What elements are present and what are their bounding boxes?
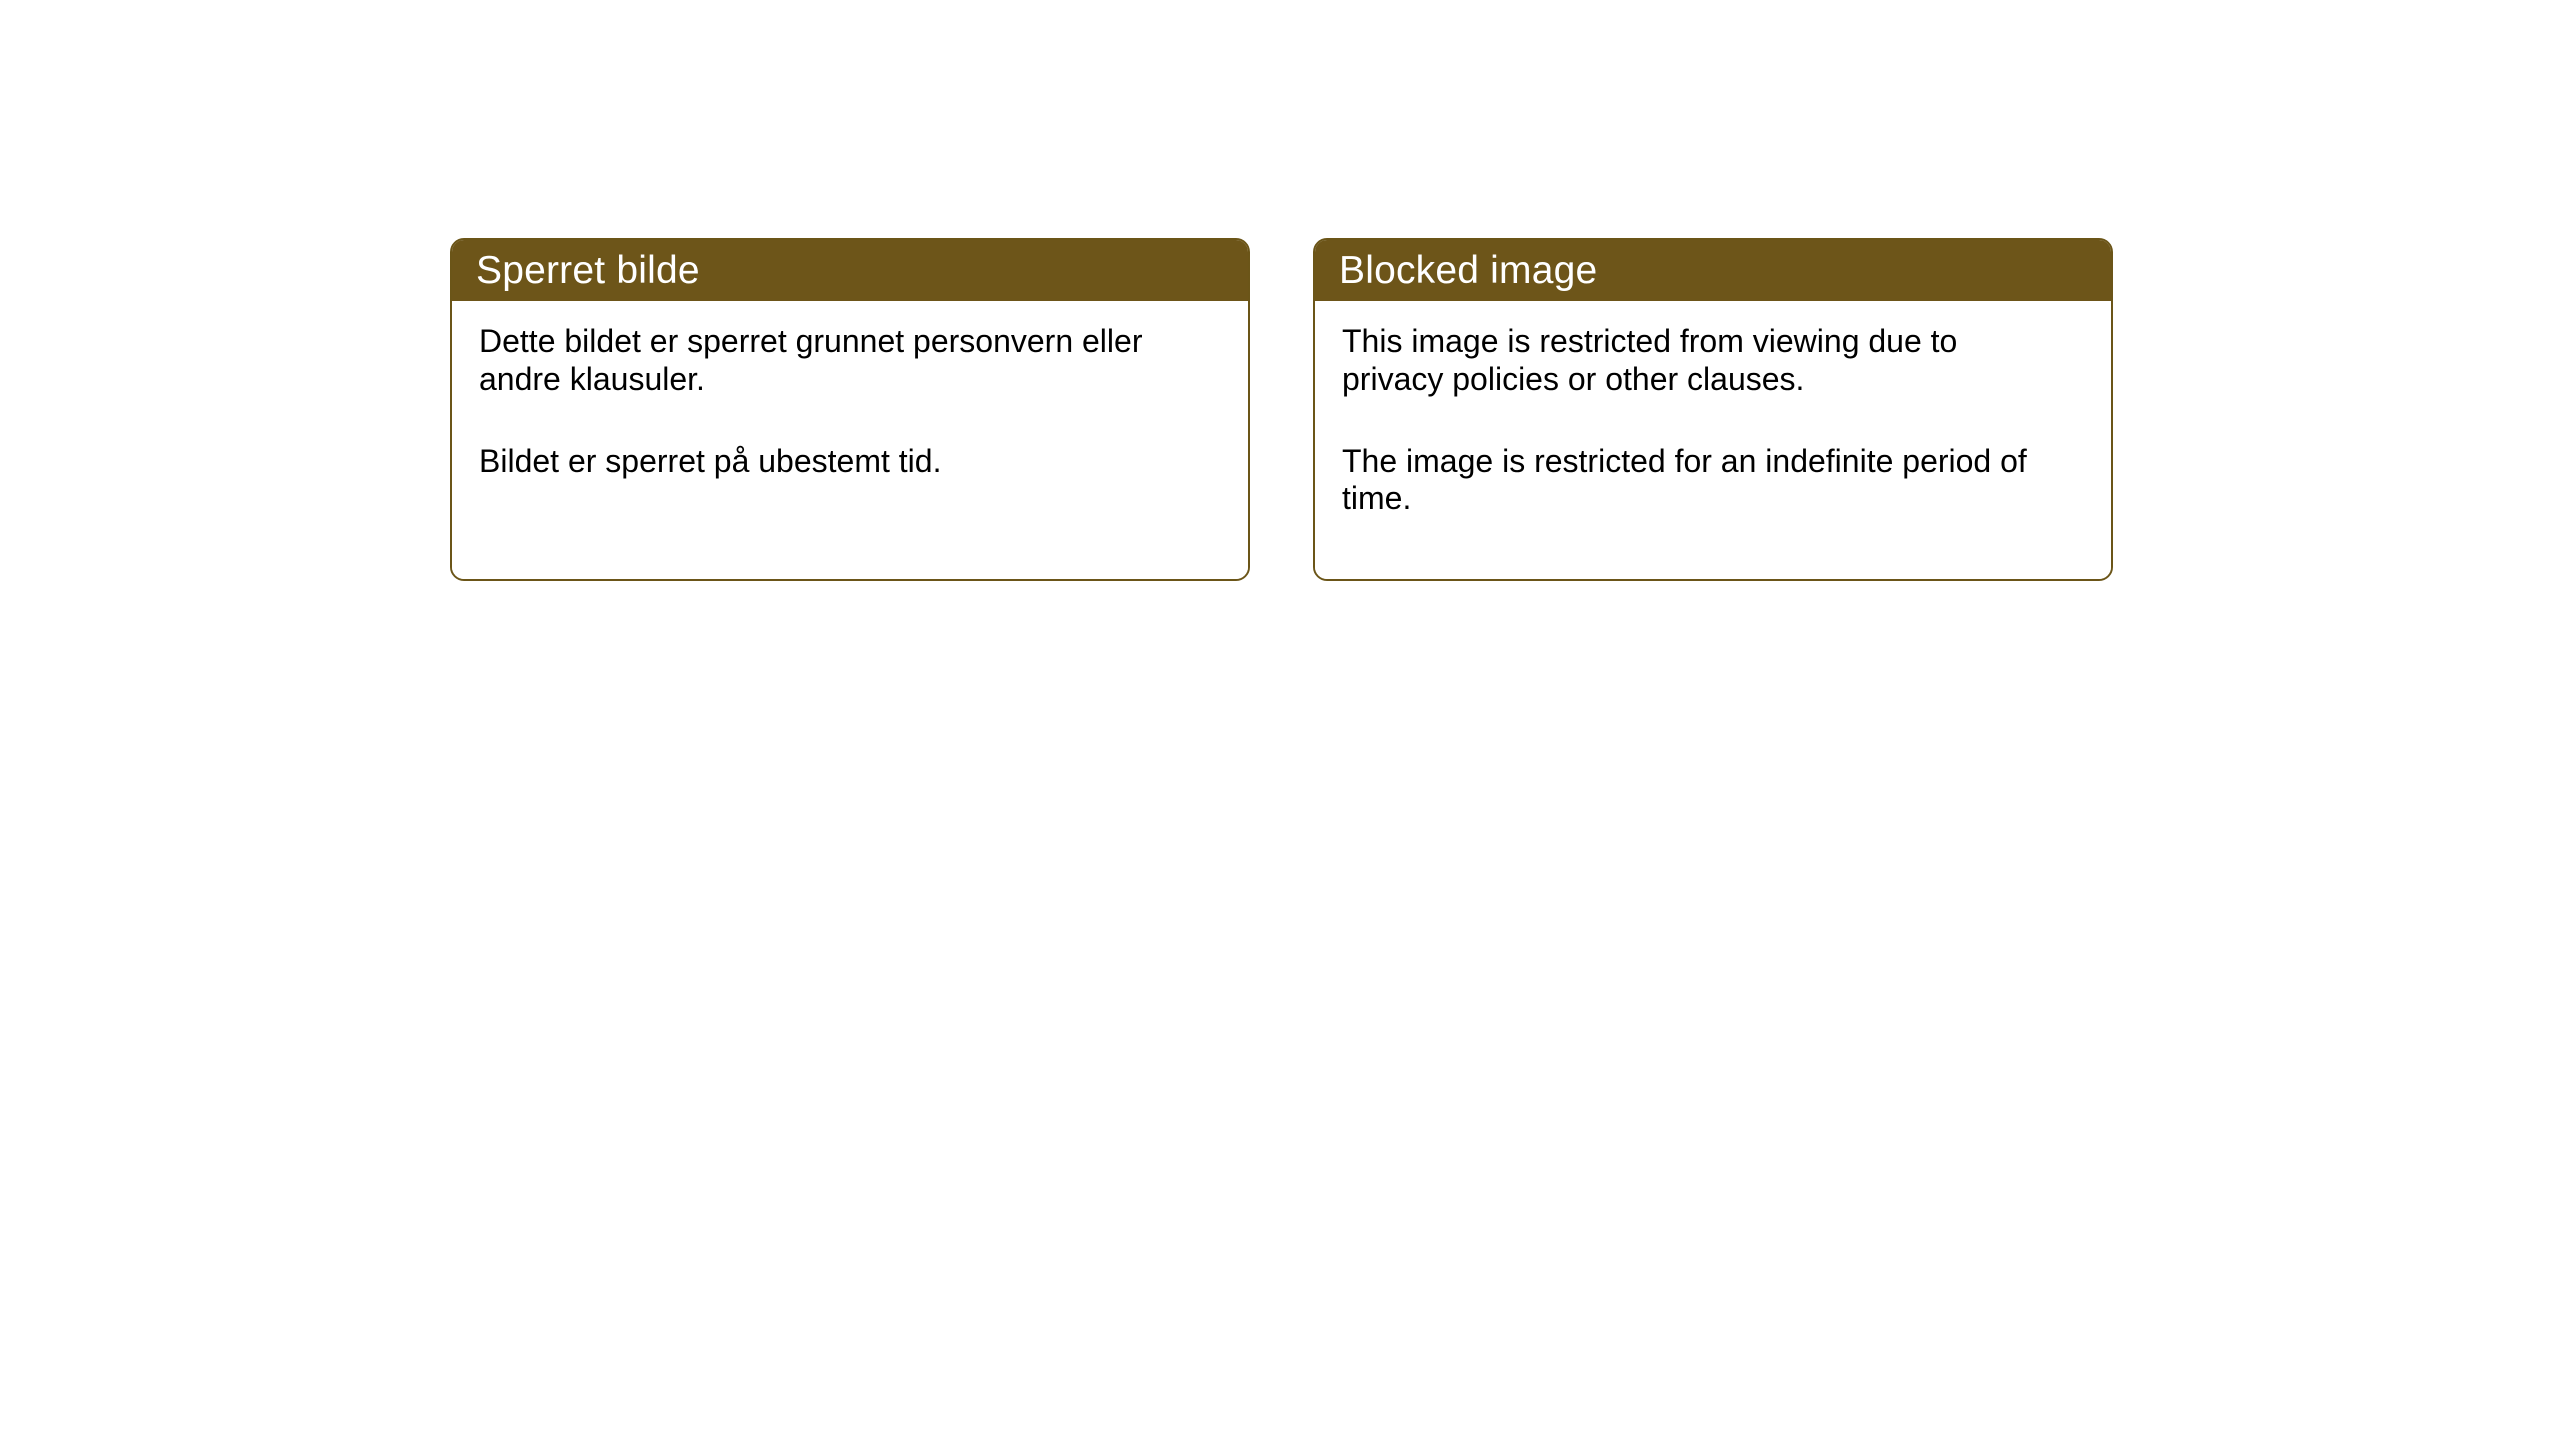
card-paragraph-duration-norwegian: Bildet er sperret på ubestemt tid. (479, 443, 1199, 481)
card-header-english: Blocked image (1314, 239, 2112, 301)
page-canvas: Sperret bilde Dette bildet er sperret gr… (0, 0, 2560, 1440)
card-paragraph-duration-english: The image is restricted for an indefinit… (1342, 443, 2062, 519)
card-title-norwegian: Sperret bilde (476, 251, 700, 290)
blocked-image-notice-group: Sperret bilde Dette bildet er sperret gr… (450, 238, 2113, 581)
card-paragraph-reason-english: This image is restricted from viewing du… (1342, 323, 2062, 399)
blocked-image-card-english: Blocked image This image is restricted f… (1313, 238, 2113, 581)
card-body-english: This image is restricted from viewing du… (1315, 301, 2111, 579)
card-header-norwegian: Sperret bilde (451, 239, 1249, 301)
blocked-image-card-norwegian: Sperret bilde Dette bildet er sperret gr… (450, 238, 1250, 581)
card-title-english: Blocked image (1339, 251, 1597, 290)
card-body-norwegian: Dette bildet er sperret grunnet personve… (452, 301, 1248, 579)
card-paragraph-reason-norwegian: Dette bildet er sperret grunnet personve… (479, 323, 1199, 399)
